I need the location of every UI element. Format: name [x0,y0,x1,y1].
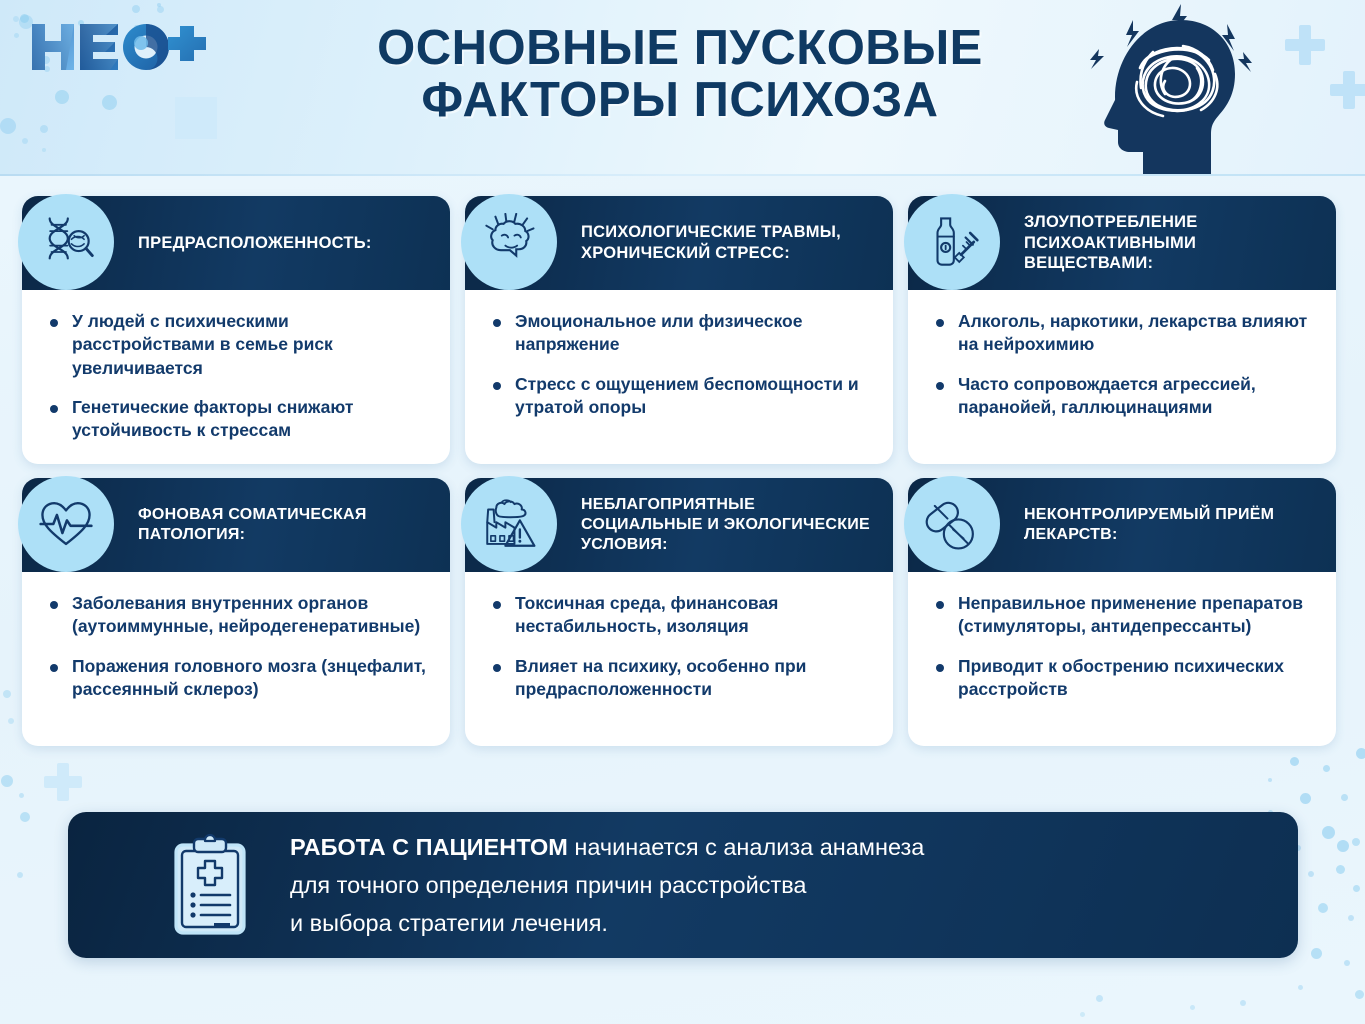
decor-dot [8,718,14,724]
head-with-tangled-brain-icon [1085,2,1275,174]
footer-callout-banner: РАБОТА С ПАЦИЕНТОМ начинается с анализа … [68,812,1298,958]
brand-logo[interactable] [28,18,198,73]
card-header: НЕКОНТРОЛИРУЕМЫЙ ПРИЁМ ЛЕКАРСТВ: [908,478,1336,572]
banner-line-2: для точного определения причин расстройс… [290,866,924,904]
decor-plus-icon [44,763,82,801]
decor-dot [1240,1000,1246,1006]
decor-dot [1356,748,1365,759]
page-title: ОСНОВНЫЕ ПУСКОВЫЕ ФАКТОРЫ ПСИХОЗА [300,22,1060,127]
decor-dot [1308,871,1314,877]
banner-line-1: РАБОТА С ПАЦИЕНТОМ начинается с анализа … [290,828,924,866]
card-somatic-pathology[interactable]: ФОНОВАЯ СОМАТИЧЕСКАЯ ПАТОЛОГИЯ: Заболева… [22,478,450,746]
bottle-syringe-icon [904,194,1000,290]
bullet-list: Неправильное применение препаратов (стим… [932,592,1318,701]
decor-dot [3,690,11,698]
decor-dot [1353,885,1360,892]
bullet-list: Алкоголь, наркотики, лекарства влияют на… [932,310,1318,419]
card-header: НЕБЛАГОПРИЯТНЫЕ СОЦИАЛЬНЫЕ И ЭКОЛОГИЧЕСК… [465,478,893,572]
decor-dot [1336,865,1345,874]
decor-dot [1322,826,1335,839]
bullet-list: Токсичная среда, финансовая нестабильнос… [489,592,875,701]
pills-icon [904,476,1000,572]
decor-dot [1337,840,1349,852]
decor-dot [1344,960,1350,966]
dna-magnifier-icon [18,194,114,290]
decor-dot [1311,948,1322,959]
decor-dot [1268,778,1272,782]
list-item: У людей с психическими расстройствами в … [46,310,432,380]
decor-dot [1190,1005,1195,1010]
heart-pulse-icon [18,476,114,572]
card-uncontrolled-medication[interactable]: НЕКОНТРОЛИРУЕМЫЙ ПРИЁМ ЛЕКАРСТВ: Неправи… [908,478,1336,746]
list-item: Генетические факторы снижают устойчивост… [46,396,432,443]
stressed-brain-icon [461,194,557,290]
list-item: Приводит к обострению психических расстр… [932,655,1318,702]
card-header: ЗЛОУПОТРЕБЛЕНИЕ ПСИХОАКТИВНЫМИ ВЕЩЕСТВАМ… [908,196,1336,290]
card-predisposition[interactable]: ПРЕДРАСПОЛОЖЕННОСТЬ: У людей с психическ… [22,196,450,464]
decor-dot [1298,985,1303,990]
decor-dot [1341,794,1348,801]
banner-text: РАБОТА С ПАЦИЕНТОМ начинается с анализа … [290,828,924,942]
card-header: ПСИХОЛОГИЧЕСКИЕ ТРАВМЫ, ХРОНИЧЕСКИЙ СТРЕ… [465,196,893,290]
decor-dot [1318,903,1328,913]
list-item: Влияет на психику, особенно при предрасп… [489,655,875,702]
list-item: Поражения головного мозга (знцефалит, ра… [46,655,432,702]
list-item: Стресс с ощущением беспомощности и утрат… [489,373,875,420]
decor-dot [1,775,13,787]
decor-dot [1348,915,1354,921]
card-social-ecological[interactable]: НЕБЛАГОПРИЯТНЫЕ СОЦИАЛЬНЫЕ И ЭКОЛОГИЧЕСК… [465,478,893,746]
card-body: Неправильное применение препаратов (стим… [908,572,1336,746]
list-item: Эмоциональное или физическое напряжение [489,310,875,357]
factory-warning-icon [461,476,557,572]
list-item: Алкоголь, наркотики, лекарства влияют на… [932,310,1318,357]
card-substance-abuse[interactable]: ЗЛОУПОТРЕБЛЕНИЕ ПСИХОАКТИВНЫМИ ВЕЩЕСТВАМ… [908,196,1336,464]
decor-dot [19,793,24,798]
decor-dot [1355,990,1364,999]
bullet-list: У людей с психическими расстройствами в … [46,310,432,442]
list-item: Часто сопровождается агрессией, паранойе… [932,373,1318,420]
card-body: У людей с психическими расстройствами в … [22,290,450,464]
decor-dot [1290,757,1299,766]
decor-dot [20,812,30,822]
card-body: Алкоголь, наркотики, лекарства влияют на… [908,290,1336,464]
page-title-line-2: ФАКТОРЫ ПСИХОЗА [300,74,1060,126]
page-header: ОСНОВНЫЕ ПУСКОВЫЕ ФАКТОРЫ ПСИХОЗА [0,0,1365,176]
card-body: Эмоциональное или физическое напряжение … [465,290,893,464]
list-item: Токсичная среда, финансовая нестабильнос… [489,592,875,639]
bullet-list: Заболевания внутренних органов (аутоимму… [46,592,432,701]
decor-dot [1096,995,1103,1002]
card-header: ФОНОВАЯ СОМАТИЧЕСКАЯ ПАТОЛОГИЯ: [22,478,450,572]
factor-cards-grid: ПРЕДРАСПОЛОЖЕННОСТЬ: У людей с психическ… [22,196,1344,746]
page-title-line-1: ОСНОВНЫЕ ПУСКОВЫЕ [300,22,1060,74]
card-psychological-trauma[interactable]: ПСИХОЛОГИЧЕСКИЕ ТРАВМЫ, ХРОНИЧЕСКИЙ СТРЕ… [465,196,893,464]
card-body: Токсичная среда, финансовая нестабильнос… [465,572,893,746]
decor-dot [1323,765,1330,772]
decor-dot [1080,1012,1085,1017]
banner-line-1-rest: начинается с анализа анамнеза [568,834,925,860]
decor-dot [1352,838,1360,846]
card-header: ПРЕДРАСПОЛОЖЕННОСТЬ: [22,196,450,290]
card-body: Заболевания внутренних органов (аутоимму… [22,572,450,746]
bullet-list: Эмоциональное или физическое напряжение … [489,310,875,419]
list-item: Заболевания внутренних органов (аутоимму… [46,592,432,639]
decor-dot [1300,793,1311,804]
banner-line-3: и выбора стратегии лечения. [290,904,924,942]
list-item: Неправильное применение препаратов (стим… [932,592,1318,639]
banner-lead: РАБОТА С ПАЦИЕНТОМ [290,834,568,860]
clipboard-medical-icon [172,833,248,937]
decor-dot [17,872,23,878]
